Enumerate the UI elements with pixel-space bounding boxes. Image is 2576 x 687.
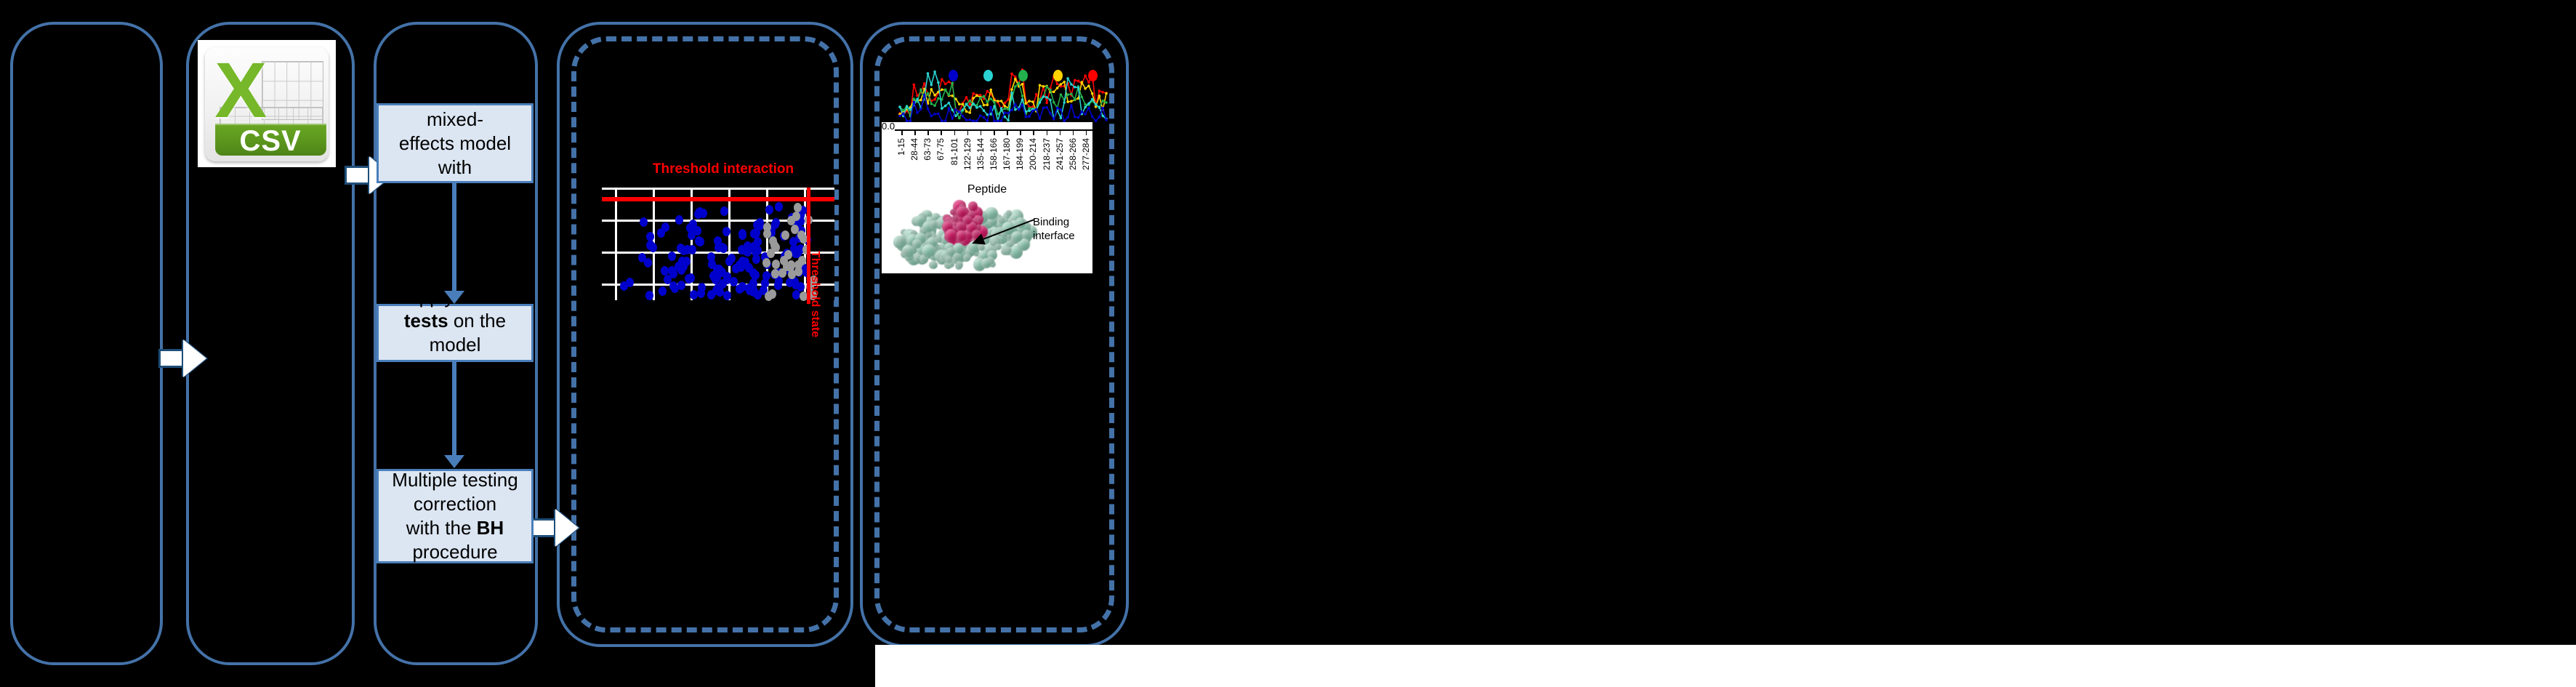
line-marker: [919, 89, 922, 92]
protein-residue: [929, 261, 937, 269]
scatter-point: [720, 206, 728, 216]
line-marker: [930, 84, 933, 87]
line-marker: [962, 103, 965, 106]
line-marker: [958, 111, 961, 113]
arrow-head: [183, 340, 206, 377]
line-marker: [1101, 91, 1104, 94]
line-marker: [1098, 106, 1101, 109]
peptide-tick-label: 241-257: [1055, 138, 1065, 170]
line-marker: [933, 94, 936, 97]
line-marker: [1087, 103, 1090, 105]
legend-dot-series-red: [1088, 70, 1098, 81]
line-marker: [941, 89, 943, 92]
line-marker: [1025, 103, 1028, 105]
line-marker: [1039, 117, 1042, 120]
line-marker: [948, 107, 951, 110]
line-marker: [923, 82, 926, 85]
peptide-tick: [954, 129, 956, 135]
line-marker: [1101, 115, 1104, 118]
protein-residue: [956, 261, 964, 269]
peptide-tick-label: 1-15: [896, 138, 906, 156]
line-marker: [958, 103, 961, 106]
scatter-point: [791, 225, 799, 234]
reml-keyword: REML: [385, 180, 439, 202]
scatter-point: [649, 243, 657, 252]
scatter-point: [677, 281, 685, 290]
line-marker: [1074, 86, 1076, 89]
line-marker: [989, 106, 992, 109]
threshold-scatter-plot: Threshold state: [602, 171, 834, 302]
legend-dot-series-cyan: [983, 70, 993, 81]
line-marker: [1039, 101, 1042, 104]
line-marker: [1035, 93, 1038, 96]
peptide-tick-label: 184-199: [1015, 138, 1025, 170]
interface-residue: [945, 229, 957, 241]
line-marker: [1052, 101, 1055, 104]
legend-dot-series-yellow: [1053, 70, 1063, 81]
scatter-point: [794, 203, 802, 212]
line-marker: [975, 106, 978, 109]
line-marker: [1045, 86, 1048, 89]
line-marker: [913, 101, 916, 104]
line-marker: [986, 103, 989, 106]
line-marker: [1056, 107, 1059, 110]
line-marker: [951, 95, 954, 97]
legend-dot-series-green: [1018, 70, 1028, 81]
connector-wald-to-bh: [452, 362, 456, 457]
arrow-into-csv-icon: [158, 340, 206, 377]
line-marker: [933, 98, 936, 101]
line-marker: [1035, 108, 1038, 111]
protein-residue: [945, 256, 952, 263]
line-marker: [1095, 120, 1098, 123]
line-marker: [1042, 107, 1045, 110]
line-marker: [1007, 119, 1010, 122]
line-marker: [1028, 107, 1031, 110]
connector-head: [444, 291, 464, 304]
line-marker: [1060, 108, 1063, 111]
line-marker: [972, 103, 975, 105]
peptide-tick: [1060, 129, 1061, 135]
protein-residue: [963, 254, 970, 261]
line-marker: [1060, 93, 1063, 96]
peptide-tick: [1020, 129, 1021, 135]
line-marker: [1070, 83, 1073, 86]
line-marker: [1049, 99, 1052, 102]
line-marker: [1091, 98, 1094, 101]
peptide-tick: [1086, 129, 1087, 135]
scatter-point: [620, 281, 628, 291]
line-marker: [1105, 118, 1108, 121]
csv-file-icon: X CSV: [198, 40, 336, 167]
peptide-tick: [994, 129, 995, 135]
line-marker: [965, 111, 968, 113]
line-marker: [969, 118, 972, 121]
line-marker: [1098, 89, 1101, 92]
scatter-point: [675, 215, 683, 225]
line-marker: [944, 83, 947, 86]
line-marker: [1028, 110, 1031, 113]
line-marker: [993, 101, 996, 104]
scatter-point: [762, 271, 770, 281]
peptide-tick-label: 63-73: [922, 138, 933, 161]
peptide-tick-label: 200-214: [1028, 138, 1038, 170]
line-marker: [1010, 88, 1013, 91]
protein-surface-figure: [889, 198, 1045, 271]
line-marker: [1014, 103, 1017, 106]
line-marker: [1042, 95, 1045, 98]
scatter-point: [645, 291, 653, 300]
results-inset-card: 0.0 1-1528-4463-7367-7581-101122-129135-…: [882, 122, 1092, 273]
wald-test-step: Apply Wald tests on the model parameters: [377, 304, 534, 362]
peptide-tick: [927, 129, 929, 135]
line-marker: [930, 88, 933, 91]
line-marker: [962, 115, 965, 118]
line-marker: [1004, 105, 1007, 108]
line-marker: [1010, 109, 1013, 112]
line-marker: [1056, 83, 1059, 86]
line-chart-svg: [895, 58, 1111, 124]
peptide-tick-label: 258-266: [1068, 138, 1078, 170]
peptide-line-chart: [895, 58, 1111, 124]
line-marker: [1045, 96, 1048, 99]
fit-model-line2: effects model with: [399, 132, 511, 178]
line-marker: [1018, 108, 1021, 111]
scatter-point: [752, 254, 760, 264]
threshold-state-label: Threshold state: [808, 251, 821, 337]
line-marker: [1074, 116, 1076, 118]
line-marker: [1014, 108, 1017, 111]
line-marker: [1010, 92, 1013, 95]
line-marker: [1045, 106, 1048, 109]
line-marker: [951, 117, 954, 120]
scatter-plot-area: [602, 188, 834, 300]
line-marker: [972, 92, 975, 95]
line-marker: [927, 108, 930, 111]
line-marker: [937, 113, 940, 116]
line-marker: [1028, 115, 1031, 118]
scatter-point: [798, 256, 806, 265]
protein-residue: [1006, 210, 1013, 217]
scatter-point: [781, 230, 789, 240]
peptide-tick: [1073, 129, 1074, 135]
line-marker: [1066, 100, 1069, 103]
peptide-tick-label: 28-44: [909, 138, 919, 161]
line-marker: [989, 89, 992, 92]
protein-residue: [903, 249, 909, 254]
bh-line2: correction: [414, 493, 496, 515]
line-marker: [1084, 106, 1087, 109]
line-marker: [1060, 83, 1063, 86]
line-marker: [906, 105, 909, 108]
line-marker: [937, 97, 940, 100]
line-marker: [1056, 87, 1059, 89]
line-marker: [997, 100, 999, 103]
protein-residue: [922, 244, 935, 258]
multiple-testing-step-text: Multiple testing correction with the BH …: [383, 468, 527, 564]
excel-x-glyph: X: [214, 54, 268, 124]
line-marker: [954, 108, 957, 111]
line-marker: [1101, 107, 1104, 110]
protein-residue: [912, 239, 922, 249]
line-marker: [983, 116, 986, 119]
line-marker: [986, 90, 989, 93]
line-marker: [965, 118, 968, 121]
line-marker: [1014, 85, 1017, 88]
line-marker: [909, 108, 912, 111]
peptide-tick-label: 122-129: [962, 138, 973, 170]
bh-line3-pre: with the: [406, 517, 477, 539]
peptide-tick-label: 277-284: [1081, 138, 1091, 170]
line-marker: [1042, 85, 1045, 88]
fit-model-step: Fit a linear mixed- effects model with R…: [377, 103, 534, 183]
scatter-point: [646, 232, 654, 241]
line-marker: [948, 102, 951, 105]
line-marker: [1101, 100, 1104, 103]
peptide-tick: [1007, 129, 1008, 135]
line-marker: [1098, 116, 1101, 118]
scatter-point: [749, 285, 757, 294]
protein-residue: [935, 236, 942, 243]
line-marker: [1066, 116, 1069, 119]
csv-icon-tile: X CSV: [205, 47, 329, 161]
scatter-point: [640, 217, 648, 227]
interface-residue: [956, 206, 967, 217]
scatter-point: [659, 286, 667, 296]
line-marker: [1060, 117, 1063, 120]
line-marker: [983, 109, 986, 112]
line-marker: [930, 115, 933, 118]
scatter-point: [744, 247, 752, 257]
protein-residue: [1011, 231, 1023, 243]
line-marker: [941, 107, 943, 110]
line-marker: [933, 71, 936, 73]
line-marker: [989, 113, 992, 116]
line-marker: [941, 78, 943, 81]
line-marker: [927, 92, 930, 95]
line-marker: [937, 81, 940, 84]
line-marker: [1091, 116, 1094, 118]
scatter-point: [767, 249, 775, 258]
line-marker: [1098, 95, 1101, 97]
input-panel: [10, 22, 163, 665]
line-marker: [919, 108, 922, 111]
line-marker: [1087, 107, 1090, 110]
scatter-point: [712, 275, 720, 284]
scatter-point: [752, 228, 760, 238]
line-marker: [1031, 110, 1034, 113]
line-marker: [1021, 103, 1024, 106]
line-marker: [1028, 100, 1031, 103]
line-marker: [1031, 100, 1034, 103]
bottom-white-strip: [875, 645, 2576, 687]
line-marker: [969, 100, 972, 103]
protein-residue: [897, 236, 905, 244]
line-marker: [923, 94, 926, 97]
line-marker: [1084, 87, 1087, 90]
peptide-tick-label: 135-144: [975, 138, 986, 170]
connector-fit-to-wald: [452, 183, 456, 292]
line-marker: [948, 94, 951, 97]
peptide-tick: [914, 129, 916, 135]
line-marker: [1049, 112, 1052, 115]
scatter-point: [738, 282, 746, 292]
peptide-tick: [901, 129, 903, 135]
line-marker: [969, 103, 972, 106]
peptide-tick: [941, 129, 942, 135]
line-marker: [969, 111, 972, 114]
line-marker: [1000, 107, 1003, 110]
line-marker: [944, 105, 947, 108]
line-marker: [983, 104, 986, 107]
line-marker: [1095, 103, 1098, 106]
line-marker: [913, 97, 916, 100]
line-chart-legend: [949, 70, 1105, 83]
binding-label-line2: interface: [1033, 230, 1075, 242]
line-marker: [1025, 116, 1028, 118]
line-marker: [975, 95, 978, 97]
scatter-point: [668, 252, 676, 261]
line-marker: [898, 115, 901, 118]
peptide-tick: [1033, 129, 1034, 135]
line-marker: [993, 105, 996, 108]
line-marker: [969, 107, 972, 110]
arrow-model-to-results: [531, 509, 579, 547]
peptide-tick: [1047, 129, 1048, 135]
bh-keyword: BH: [477, 517, 504, 539]
line-marker: [965, 96, 968, 99]
line-marker: [1105, 101, 1108, 104]
scatter-point: [784, 250, 792, 260]
protein-residue: [981, 258, 991, 268]
bh-line3-post: procedure: [412, 541, 497, 563]
scatter-point: [638, 253, 646, 262]
line-marker: [972, 97, 975, 100]
line-marker: [1105, 92, 1108, 95]
line-marker: [962, 108, 965, 111]
peptide-tick-label: 158-166: [989, 138, 999, 170]
line-marker: [1084, 113, 1087, 116]
line-marker: [1052, 118, 1055, 121]
line-marker: [1039, 84, 1042, 87]
line-marker: [983, 95, 986, 98]
line-marker: [1074, 98, 1076, 101]
scatter-point: [737, 262, 745, 272]
binding-label-line1: Binding: [1033, 216, 1069, 228]
line-marker: [1049, 89, 1052, 92]
line-marker: [1070, 100, 1073, 103]
peptide-axis-title: Peptide: [882, 183, 1092, 196]
line-marker: [1021, 98, 1024, 101]
line-marker: [1021, 95, 1024, 97]
scatter-point: [728, 254, 736, 263]
line-marker: [898, 105, 901, 108]
line-marker: [902, 109, 905, 112]
scatter-point: [765, 292, 773, 301]
scatter-point: [661, 222, 669, 232]
line-marker: [986, 100, 989, 103]
scatter-point: [714, 236, 722, 246]
bh-line1: Multiple testing: [392, 469, 518, 491]
connector-head: [444, 455, 464, 468]
line-marker: [919, 99, 922, 102]
line-marker: [954, 115, 957, 118]
line-marker: [933, 113, 936, 116]
line-marker: [979, 105, 982, 108]
line-marker: [1081, 111, 1084, 113]
peptide-tick-label: 67-75: [935, 138, 946, 161]
peptide-tick-label: 167-180: [1002, 138, 1012, 170]
line-marker: [1091, 92, 1094, 95]
line-marker: [1077, 116, 1080, 119]
line-marker: [1004, 108, 1007, 111]
line-marker: [902, 112, 905, 115]
line-marker: [930, 103, 933, 105]
protein-residue: [994, 244, 1001, 250]
line-marker: [1087, 84, 1090, 87]
interface-residue: [968, 201, 978, 211]
horizontal-threshold-line: [602, 197, 834, 201]
line-marker: [1007, 112, 1010, 115]
scatter-point: [687, 273, 695, 283]
scatter-point: [699, 209, 707, 218]
line-marker: [1021, 83, 1024, 86]
scatter-point: [714, 284, 722, 293]
line-marker: [916, 97, 919, 100]
line-marker: [1081, 96, 1084, 99]
line-marker: [1000, 100, 1003, 103]
line-marker: [1045, 102, 1048, 105]
line-marker: [916, 111, 919, 114]
peptide-tick: [981, 129, 982, 135]
csv-format-label: CSV: [215, 124, 326, 156]
binding-interface-label: Binding interface: [1033, 215, 1090, 243]
line-marker: [1066, 93, 1069, 96]
line-marker: [989, 97, 992, 100]
peptide-tick-label: 81-101: [949, 138, 959, 165]
line-marker: [1077, 87, 1080, 89]
scatter-point: [689, 220, 697, 229]
line-marker: [1004, 111, 1007, 114]
scatter-point: [775, 202, 783, 212]
peptide-tick: [967, 129, 969, 135]
line-marker: [927, 72, 930, 75]
fit-model-line1: Fit a linear mixed-: [411, 84, 499, 130]
line-marker: [965, 103, 968, 105]
peptide-tick-label: 218-237: [1042, 138, 1052, 170]
y-axis-zero-tick: 0.0: [882, 122, 895, 132]
line-marker: [944, 89, 947, 92]
multiple-testing-step: Multiple testing correction with the BH …: [377, 469, 534, 563]
scatter-point: [774, 281, 782, 290]
line-marker: [933, 104, 936, 107]
legend-dot-series-blue: [949, 70, 958, 81]
scatter-point: [765, 205, 773, 214]
line-marker: [1084, 103, 1087, 106]
line-marker: [979, 114, 982, 117]
line-marker: [1052, 91, 1055, 94]
scatter-point: [723, 227, 730, 236]
line-marker: [951, 108, 954, 111]
line-marker: [913, 84, 916, 87]
arrow-head: [555, 509, 579, 547]
line-marker: [1063, 101, 1066, 104]
line-marker: [958, 117, 961, 120]
line-marker: [1070, 104, 1073, 107]
line-marker: [979, 97, 982, 100]
line-marker: [1070, 93, 1073, 96]
scatter-point: [690, 290, 698, 300]
